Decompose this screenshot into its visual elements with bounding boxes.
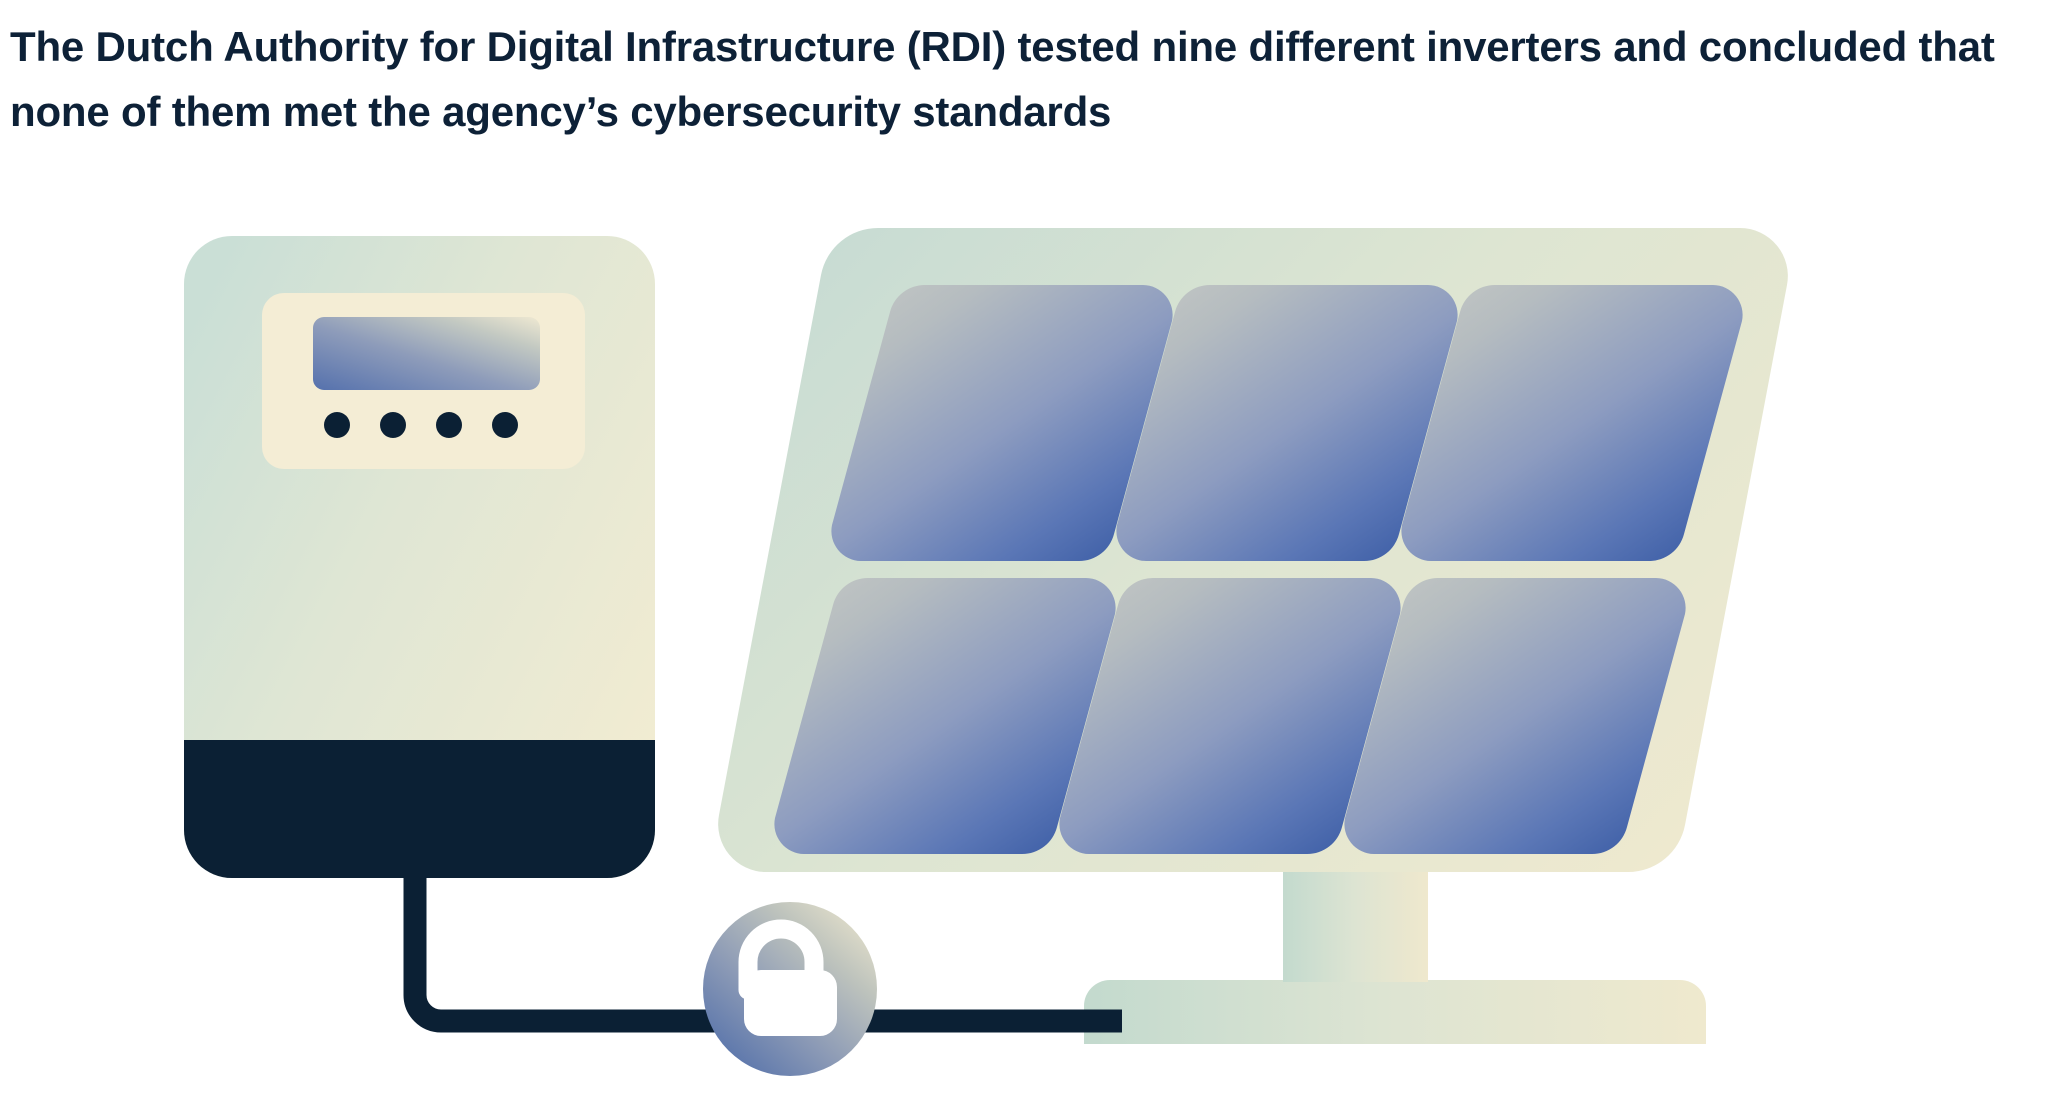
solar-cell-row-bottom — [774, 578, 1685, 854]
solar-inverter-cybersecurity-illustration — [0, 0, 2048, 1109]
inverter-button — [324, 412, 350, 438]
cable-path — [415, 866, 1122, 1021]
solar-cell — [774, 578, 1115, 854]
page-title: The Dutch Authority for Digital Infrastr… — [10, 14, 2038, 144]
solar-panel-frame — [718, 228, 1788, 872]
inverter-button-row — [324, 412, 518, 438]
padlock-body-icon — [744, 970, 837, 1036]
inverter-button — [380, 412, 406, 438]
inverter-dark-base — [184, 740, 655, 878]
solar-panel-base — [1084, 980, 1706, 1044]
inverter-faceplate — [262, 293, 585, 469]
solar-cell — [1059, 578, 1400, 854]
inverter-button — [492, 412, 518, 438]
solar-cell — [1116, 285, 1457, 561]
solar-cell — [831, 285, 1172, 561]
solar-cell — [1401, 285, 1742, 561]
inverter-display-screen — [313, 317, 540, 390]
solar-panel-post — [1283, 865, 1428, 982]
inverter-body — [184, 236, 655, 878]
inverter-button — [436, 412, 462, 438]
inverter-unit — [184, 236, 655, 878]
padlock-badge-circle — [703, 902, 877, 1076]
solar-cell-row-top — [831, 285, 1742, 561]
power-cable — [415, 866, 1122, 1021]
unlocked-padlock-badge — [703, 902, 877, 1076]
unlocked-padlock-shackle-icon — [748, 929, 814, 990]
solar-cell — [1344, 578, 1685, 854]
solar-panel-assembly — [718, 228, 1788, 1044]
